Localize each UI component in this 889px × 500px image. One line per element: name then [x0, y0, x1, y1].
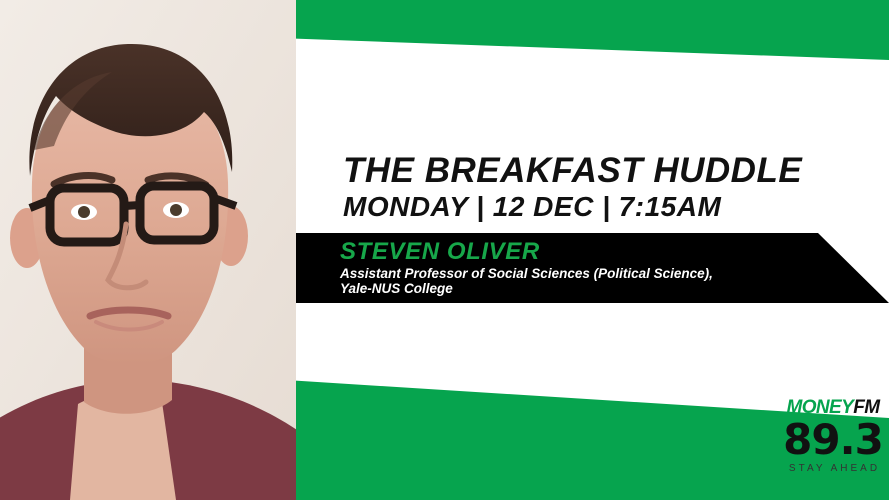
guest-role: Assistant Professor of Social Sciences (…	[340, 266, 810, 296]
station-logo: MONEYFM 89.3 STAY AHEAD	[779, 397, 887, 475]
logo-tagline: STAY AHEAD	[779, 463, 887, 475]
guest-name: STEVEN OLIVER	[340, 238, 540, 265]
guest-role-line-1: Assistant Professor of Social Sciences (…	[340, 266, 810, 281]
guest-banner: STEVEN OLIVER Assistant Professor of Soc…	[296, 233, 889, 303]
guest-role-line-2: Yale-NUS College	[340, 281, 810, 296]
headline-block: THE BREAKFAST HUDDLE MONDAY | 12 DEC | 7…	[343, 152, 863, 223]
show-schedule: MONDAY | 12 DEC | 7:15AM	[343, 191, 863, 223]
guest-headshot-illustration	[0, 0, 296, 500]
guest-photo	[0, 0, 296, 500]
radio-show-promo-card: THE BREAKFAST HUDDLE MONDAY | 12 DEC | 7…	[0, 0, 889, 500]
show-title: THE BREAKFAST HUDDLE	[343, 152, 863, 190]
logo-frequency: 89.3	[779, 419, 887, 461]
